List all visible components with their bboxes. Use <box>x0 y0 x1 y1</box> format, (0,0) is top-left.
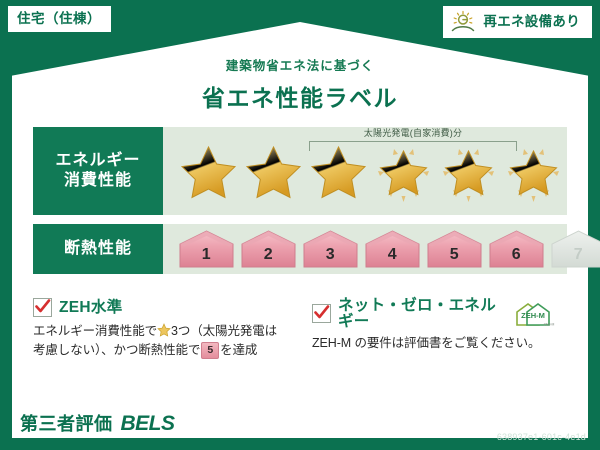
renewable-badge-label: 再エネ設備あり <box>483 15 580 29</box>
zeh-desc-part1: エネルギー消費性能で <box>33 324 157 338</box>
insulation-level-scale: 1 2 3 <box>163 229 600 269</box>
footer-evaluation-info: 評価日 2024年11月25日 638937e1-601c-4e1d <box>438 409 586 442</box>
insulation-level-2-number: 2 <box>264 246 273 269</box>
insulation-performance-label: 断熱性能 <box>33 224 163 274</box>
performance-rows: エネルギー 消費性能 太陽光発電(自家消費)分 <box>33 127 567 283</box>
insulation-level-3-number: 3 <box>326 246 335 269</box>
svg-text:ZEH-M: ZEH-M <box>521 311 545 320</box>
insulation-level-5: 5 <box>425 229 484 269</box>
star-icon-4-solar <box>372 140 435 202</box>
star-icon-6-solar <box>502 140 565 202</box>
zeh-standard-description: エネルギー消費性能で3つ（太陽光発電は考慮しない）、かつ断熱性能で5を達成 <box>33 322 288 360</box>
energy-label-line2: 消費性能 <box>64 171 132 191</box>
net-zero-energy-description: ZEH-M の要件は評価書をご覧ください。 <box>312 334 555 353</box>
insulation-level-3: 3 <box>301 229 360 269</box>
label-footer: 第三者評価 BELS 0275766-02 評価日 2024年11月25日 63… <box>0 398 600 450</box>
svg-text:ZEH-M: ZEH-M <box>544 322 555 326</box>
insulation-level-1: 1 <box>177 229 236 269</box>
title-block: 建築物省エネ法に基づく 省エネ性能ラベル <box>0 55 600 113</box>
energy-star-rating <box>163 140 567 202</box>
bels-logo-text: BELS <box>121 413 175 434</box>
star-icon-2 <box>242 140 305 202</box>
bels-number: 0275766-02 <box>200 419 269 433</box>
energy-performance-row: エネルギー 消費性能 太陽光発電(自家消費)分 <box>33 127 567 215</box>
zeh-desc-part3: を達成 <box>220 343 257 357</box>
third-party-evaluation-label: 第三者評価 <box>20 415 113 433</box>
energy-performance-label: エネルギー 消費性能 <box>33 127 163 215</box>
zeh-standard-header: ZEH水準 <box>33 298 288 317</box>
energy-performance-label: 住宅（住棟） 再エネ設備あり 建築物省エネ法に基づく <box>0 0 600 450</box>
insulation-level-chip: 5 <box>201 342 219 359</box>
insulation-level-6-number: 6 <box>512 246 521 269</box>
star-icon-3 <box>307 140 370 202</box>
net-zero-energy-checkbox[interactable] <box>312 304 331 323</box>
document-type-tag: 住宅（住棟） <box>8 6 111 32</box>
certification-checks: ZEH水準 エネルギー消費性能で3つ（太陽光発電は考慮しない）、かつ断熱性能で5… <box>33 298 567 360</box>
insulation-performance-value: 1 2 3 <box>163 224 600 274</box>
evaluation-date: 評価日 2024年11月25日 <box>438 409 586 429</box>
star-icon-inline <box>157 323 171 337</box>
bels-evaluation-box: 第三者評価 BELS <box>12 409 184 438</box>
insulation-level-7: 7 <box>549 229 600 269</box>
zeh-standard-block: ZEH水準 エネルギー消費性能で3つ（太陽光発電は考慮しない）、かつ断熱性能で5… <box>33 298 300 360</box>
net-zero-energy-block: ネット・ゼロ・エネルギー ZEH-M ZEH-M ZEH-M の要件は評価書をご… <box>300 298 567 360</box>
star-icon-5-solar <box>437 140 500 202</box>
insulation-level-1-number: 1 <box>202 246 211 269</box>
insulation-level-2: 2 <box>239 229 298 269</box>
zeh-m-logo-icon: ZEH-M ZEH-M <box>511 301 555 327</box>
star-icon-1 <box>177 140 240 202</box>
zeh-standard-checkbox[interactable] <box>33 298 52 317</box>
net-zero-energy-title: ネット・ゼロ・エネルギー <box>338 298 504 329</box>
page-title: 省エネ性能ラベル <box>0 79 600 113</box>
sun-renewable-icon <box>450 10 476 34</box>
insulation-performance-row: 断熱性能 <box>33 224 567 274</box>
insulation-level-5-number: 5 <box>450 246 459 269</box>
insulation-level-4: 4 <box>363 229 422 269</box>
solar-annotation-text: 太陽光発電(自家消費)分 <box>309 129 517 138</box>
evaluation-id: 638937e1-601c-4e1d <box>438 432 586 442</box>
insulation-level-4-number: 4 <box>388 246 397 269</box>
insulation-level-7-number: 7 <box>574 246 583 269</box>
renewable-equipment-badge: 再エネ設備あり <box>443 6 592 38</box>
energy-performance-value: 太陽光発電(自家消費)分 <box>163 127 567 215</box>
net-zero-energy-header: ネット・ゼロ・エネルギー ZEH-M ZEH-M <box>312 298 555 329</box>
energy-label-line1: エネルギー <box>55 151 140 171</box>
insulation-level-6: 6 <box>487 229 546 269</box>
zeh-standard-title: ZEH水準 <box>59 300 123 316</box>
label-subtitle: 建築物省エネ法に基づく <box>0 55 600 74</box>
